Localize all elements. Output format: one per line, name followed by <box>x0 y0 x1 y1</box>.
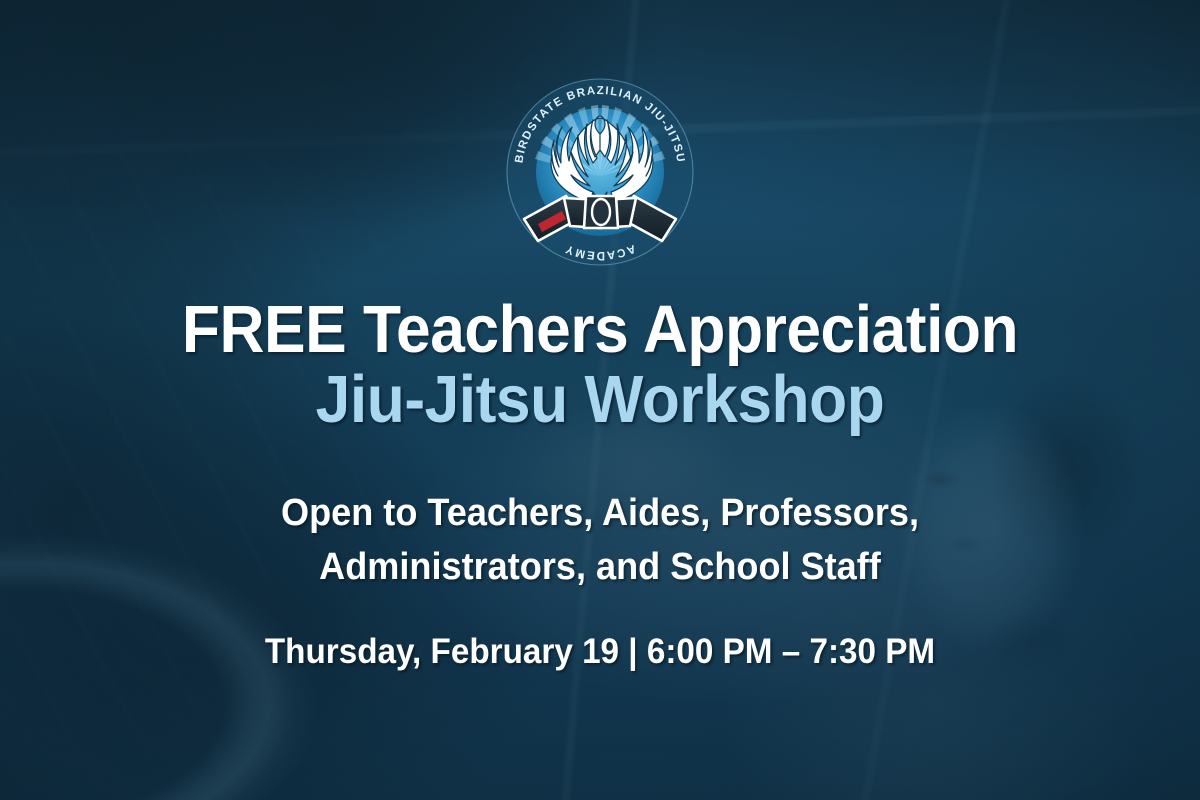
audience-line-1: Open to Teachers, Aides, Professors, <box>30 487 1170 541</box>
event-flyer: BIRDSTATE BRAZILIAN JIU-JITSU ACADEMY FR… <box>0 0 1200 800</box>
audience-block: Open to Teachers, Aides, Professors, Adm… <box>0 487 1200 595</box>
academy-logo: BIRDSTATE BRAZILIAN JIU-JITSU ACADEMY <box>500 72 700 272</box>
headline-line-1: FREE Teachers Appreciation <box>42 296 1158 364</box>
headline-line-2: Jiu-Jitsu Workshop <box>42 366 1158 434</box>
flyer-content: BIRDSTATE BRAZILIAN JIU-JITSU ACADEMY FR… <box>0 0 1200 800</box>
headline-block: FREE Teachers Appreciation Jiu-Jitsu Wor… <box>0 296 1200 435</box>
datetime-block: Thursday, February 19 | 6:00 PM – 7:30 P… <box>0 631 1200 673</box>
audience-line-2: Administrators, and School Staff <box>30 541 1170 595</box>
event-datetime: Thursday, February 19 | 6:00 PM – 7:30 P… <box>30 631 1170 673</box>
logo-belt-knot <box>584 196 618 228</box>
